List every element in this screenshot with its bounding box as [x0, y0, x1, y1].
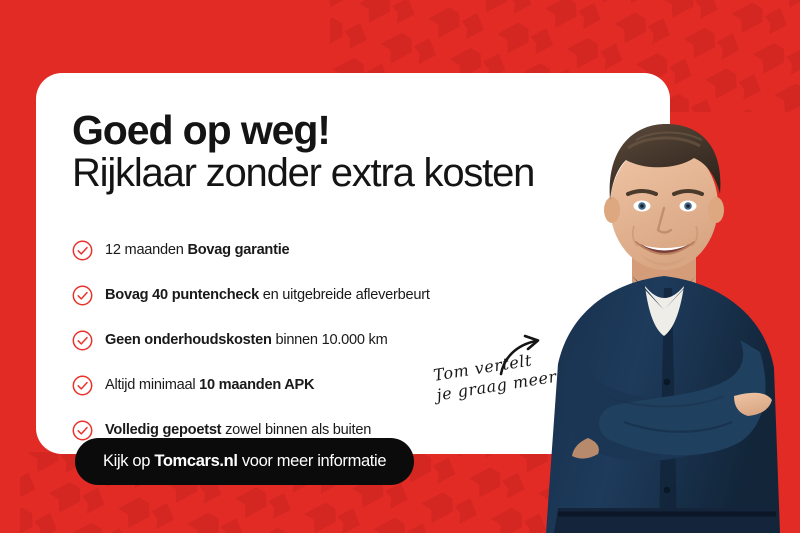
- list-item-label: Bovag 40 puntencheck en uitgebreide afle…: [105, 287, 430, 303]
- check-circle-icon: [72, 330, 93, 351]
- list-item-label: Altijd minimaal 10 maanden APK: [105, 377, 314, 393]
- check-circle-icon: [72, 375, 93, 396]
- check-circle-icon: [72, 240, 93, 261]
- check-circle-icon: [72, 420, 93, 441]
- cta-label: Kijk op Tomcars.nl voor meer informatie: [103, 452, 386, 471]
- list-item-label: Volledig gepoetst zowel binnen als buite…: [105, 422, 371, 438]
- check-circle-icon: [72, 285, 93, 306]
- cta-button[interactable]: Kijk op Tomcars.nl voor meer informatie: [75, 438, 414, 485]
- avatar: [528, 96, 800, 533]
- list-item-label: 12 maanden Bovag garantie: [105, 242, 289, 258]
- list-item-label: Geen onderhoudskosten binnen 10.000 km: [105, 332, 387, 348]
